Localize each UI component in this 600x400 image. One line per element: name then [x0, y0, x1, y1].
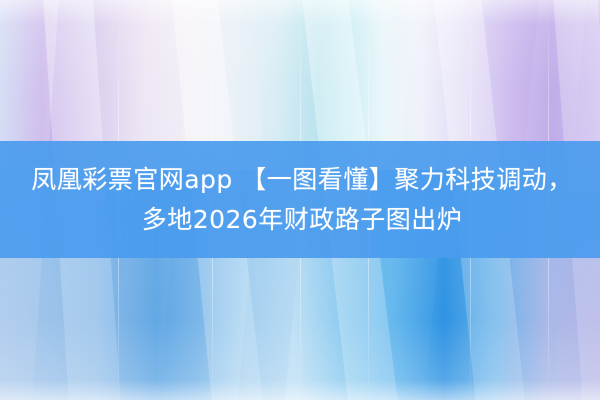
headline-banner: 凤凰彩票官网app 【一图看懂】聚力科技调动， 多地2026年财政路子图出炉 — [0, 141, 600, 258]
screenshot-canvas: 凤凰彩票官网app 【一图看懂】聚力科技调动， 多地2026年财政路子图出炉 — [0, 0, 600, 400]
headline-line-2: 多地2026年财政路子图出炉 — [138, 200, 463, 240]
headline-line-1: 凤凰彩票官网app 【一图看懂】聚力科技调动， — [27, 160, 573, 200]
